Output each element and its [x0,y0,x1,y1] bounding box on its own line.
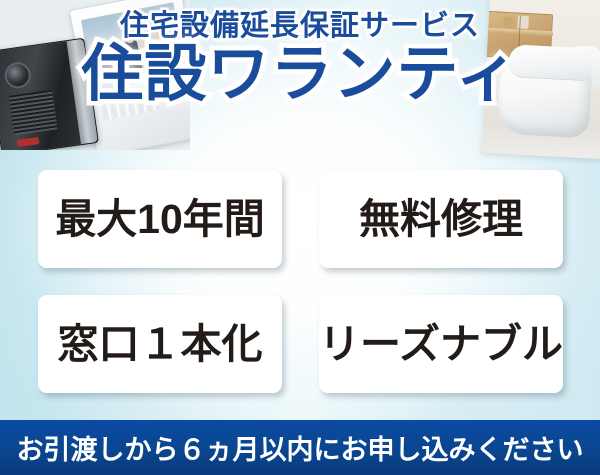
promo-banner: 住宅設備延長保証サービス 住設ワランティ 最大10年間 無料修理 窓口１本化 リ… [0,0,600,475]
feature-card-max-years: 最大10年間 [38,170,282,268]
feature-label: 最大10年間 [55,199,265,240]
feature-card-grid: 最大10年間 無料修理 窓口１本化 リーズナブル [38,170,563,393]
feature-card-single-contact: 窓口１本化 [38,295,282,393]
call-button [17,137,40,147]
monitor-keypad [99,88,160,121]
intercom-outdoor-unit [0,38,99,150]
cta-text: お引渡しから６ヵ月以内にお申し込みください [17,428,584,467]
feature-label: リーズナブル [319,324,563,365]
feature-card-free-repair: 無料修理 [319,170,563,268]
toilet-lid [508,44,594,81]
cta-banner: お引渡しから６ヵ月以内にお申し込みください [0,420,600,475]
feature-label: 窓口１本化 [58,324,263,365]
toilet-photo [482,0,600,159]
cabinet-shelf [485,28,553,37]
intercom-photo [0,0,190,150]
feature-label: 無料修理 [359,199,523,240]
feature-card-reasonable: リーズナブル [319,295,563,393]
camera-lens-icon [3,61,32,90]
speaker-grille [8,90,57,136]
